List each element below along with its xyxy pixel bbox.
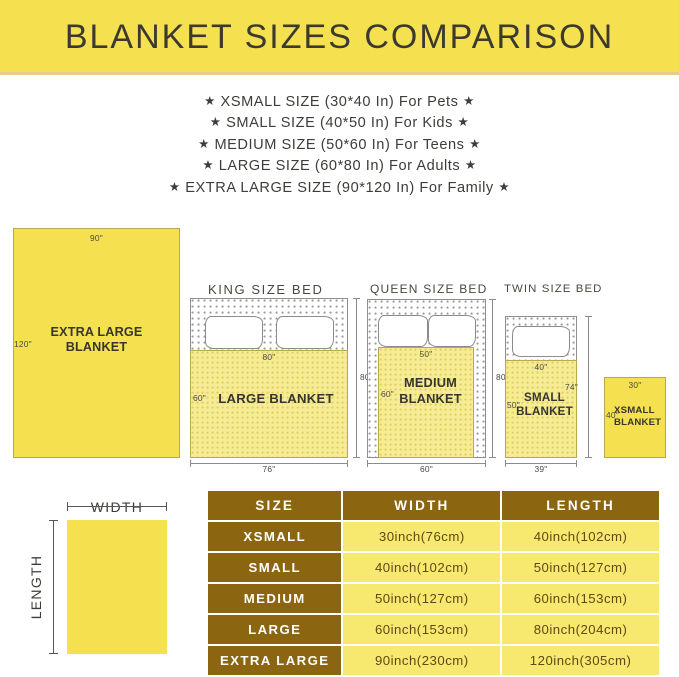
table-cell-width: 50inch(127cm) [343,584,500,613]
king-bed-title: KING SIZE BED [208,282,323,297]
table-row: XSMALL 30inch(76cm) 40inch(102cm) [208,522,659,551]
table-cell-length: 40inch(102cm) [502,522,659,551]
list-item-label: MEDIUM SIZE (50*60 In) For Teens [214,137,464,153]
table-cell-size: LARGE [208,615,341,644]
star-icon: ★ [463,94,475,108]
star-icon: ★ [198,137,210,151]
legend-width-tick-right [166,502,167,511]
size-bullet-list: ★ XSMALL SIZE (30*40 In) For Pets ★ ★ SM… [0,91,679,198]
twin-bed-length-dim: 74" [565,382,578,392]
list-item-label: EXTRA LARGE SIZE (90*120 In) For Family [185,180,494,196]
list-item: ★ EXTRA LARGE SIZE (90*120 In) For Famil… [0,177,679,198]
list-item: ★ SMALL SIZE (40*50 In) For Kids ★ [0,112,679,133]
star-icon: ★ [169,180,181,194]
star-icon: ★ [210,115,222,129]
legend-length-rule [53,520,54,654]
list-item-label: LARGE SIZE (60*80 In) For Adults [219,158,460,174]
table-cell-length: 80inch(204cm) [502,615,659,644]
queen-blanket-label-line2: BLANKET [399,391,462,406]
list-item-label: XSMALL SIZE (30*40 In) For Pets [221,94,459,110]
table-cell-size: EXTRA LARGE [208,646,341,675]
legend-width-tick-left [67,502,68,511]
queen-medium-blanket-label: MEDIUM BLANKET [387,375,474,406]
twin-small-blanket-label: SMALL BLANKET [512,391,577,419]
list-item: ★ LARGE SIZE (60*80 In) For Adults ★ [0,155,679,176]
star-icon: ★ [498,180,510,194]
table-cell-size: XSMALL [208,522,341,551]
king-pillow-left [205,316,263,349]
table-cell-width: 30inch(76cm) [343,522,500,551]
table-cell-size: MEDIUM [208,584,341,613]
header-underline-divider [0,72,679,75]
legend-length-tick-top [49,520,58,521]
star-icon: ★ [469,137,481,151]
table-cell-length: 50inch(127cm) [502,553,659,582]
table-header-width: WIDTH [343,491,500,520]
legend-length-tick-bottom [49,653,58,654]
twin-pillow [512,326,570,357]
table-row: SMALL 40inch(102cm) 50inch(127cm) [208,553,659,582]
extra-large-width-dim: 90" [13,233,180,243]
extra-large-blanket-label: EXTRA LARGE BLANKET [13,325,180,356]
queen-bed-title: QUEEN SIZE BED [370,282,488,296]
table-cell-size: SMALL [208,553,341,582]
list-item: ★ XSMALL SIZE (30*40 In) For Pets ★ [0,91,679,112]
queen-bed-length-rule [492,299,493,458]
table-row: EXTRA LARGE 90inch(230cm) 120inch(305cm) [208,646,659,675]
table-cell-width: 60inch(153cm) [343,615,500,644]
list-item: ★ MEDIUM SIZE (50*60 In) For Teens ★ [0,134,679,155]
queen-bed-width-dim: 60" [367,464,486,474]
king-pillow-right [276,316,334,349]
king-bed-width-dim: 76" [190,464,348,474]
queen-pillow-left [378,315,428,347]
table-cell-length: 120inch(305cm) [502,646,659,675]
queen-blanket-label-line1: MEDIUM [404,375,457,390]
legend-width-rule [67,506,167,507]
header-banner: BLANKET SIZES COMPARISON [0,0,679,72]
table-header-size: SIZE [208,491,341,520]
table-header-length: LENGTH [502,491,659,520]
king-large-blanket-label: LARGE BLANKET [204,391,348,407]
twin-blanket-label-line1: SMALL [524,391,565,404]
xsmall-blanket-label-line1: XSMALL [614,405,655,416]
legend-length-label: LENGTH [28,520,44,654]
xsmall-width-dim: 30" [604,380,666,390]
twin-bed-length-rule [588,316,589,458]
queen-blanket-width-dim: 50" [378,349,474,359]
xsmall-blanket-label-line2: BLANKET [614,417,661,428]
size-table: SIZE WIDTH LENGTH XSMALL 30inch(76cm) 40… [206,489,661,677]
twin-bed-title: TWIN SIZE BED [504,283,602,295]
table-cell-length: 60inch(153cm) [502,584,659,613]
star-icon: ★ [458,115,470,129]
star-icon: ★ [204,94,216,108]
legend-width-label: WIDTH [67,499,167,515]
star-icon: ★ [465,158,477,172]
extra-large-blanket-label-line2: BLANKET [66,340,128,354]
king-bed-length-rule [356,298,357,458]
table-row: LARGE 60inch(153cm) 80inch(204cm) [208,615,659,644]
queen-pillow-right [428,315,476,347]
list-item-label: SMALL SIZE (40*50 In) For Kids [226,115,453,131]
twin-blanket-width-dim: 40" [505,362,577,372]
table-cell-width: 40inch(102cm) [343,553,500,582]
table-header-row: SIZE WIDTH LENGTH [208,491,659,520]
xsmall-blanket-label: XSMALL BLANKET [614,405,666,428]
star-icon: ★ [202,158,214,172]
twin-bed-width-dim: 39" [505,464,577,474]
twin-blanket-label-line2: BLANKET [516,405,573,418]
page-title: BLANKET SIZES COMPARISON [0,0,679,72]
table-cell-width: 90inch(230cm) [343,646,500,675]
king-blanket-width-dim: 80" [190,352,348,362]
table-row: MEDIUM 50inch(127cm) 60inch(153cm) [208,584,659,613]
extra-large-blanket-label-line1: EXTRA LARGE [51,325,143,339]
legend-blanket-shape [67,520,167,654]
